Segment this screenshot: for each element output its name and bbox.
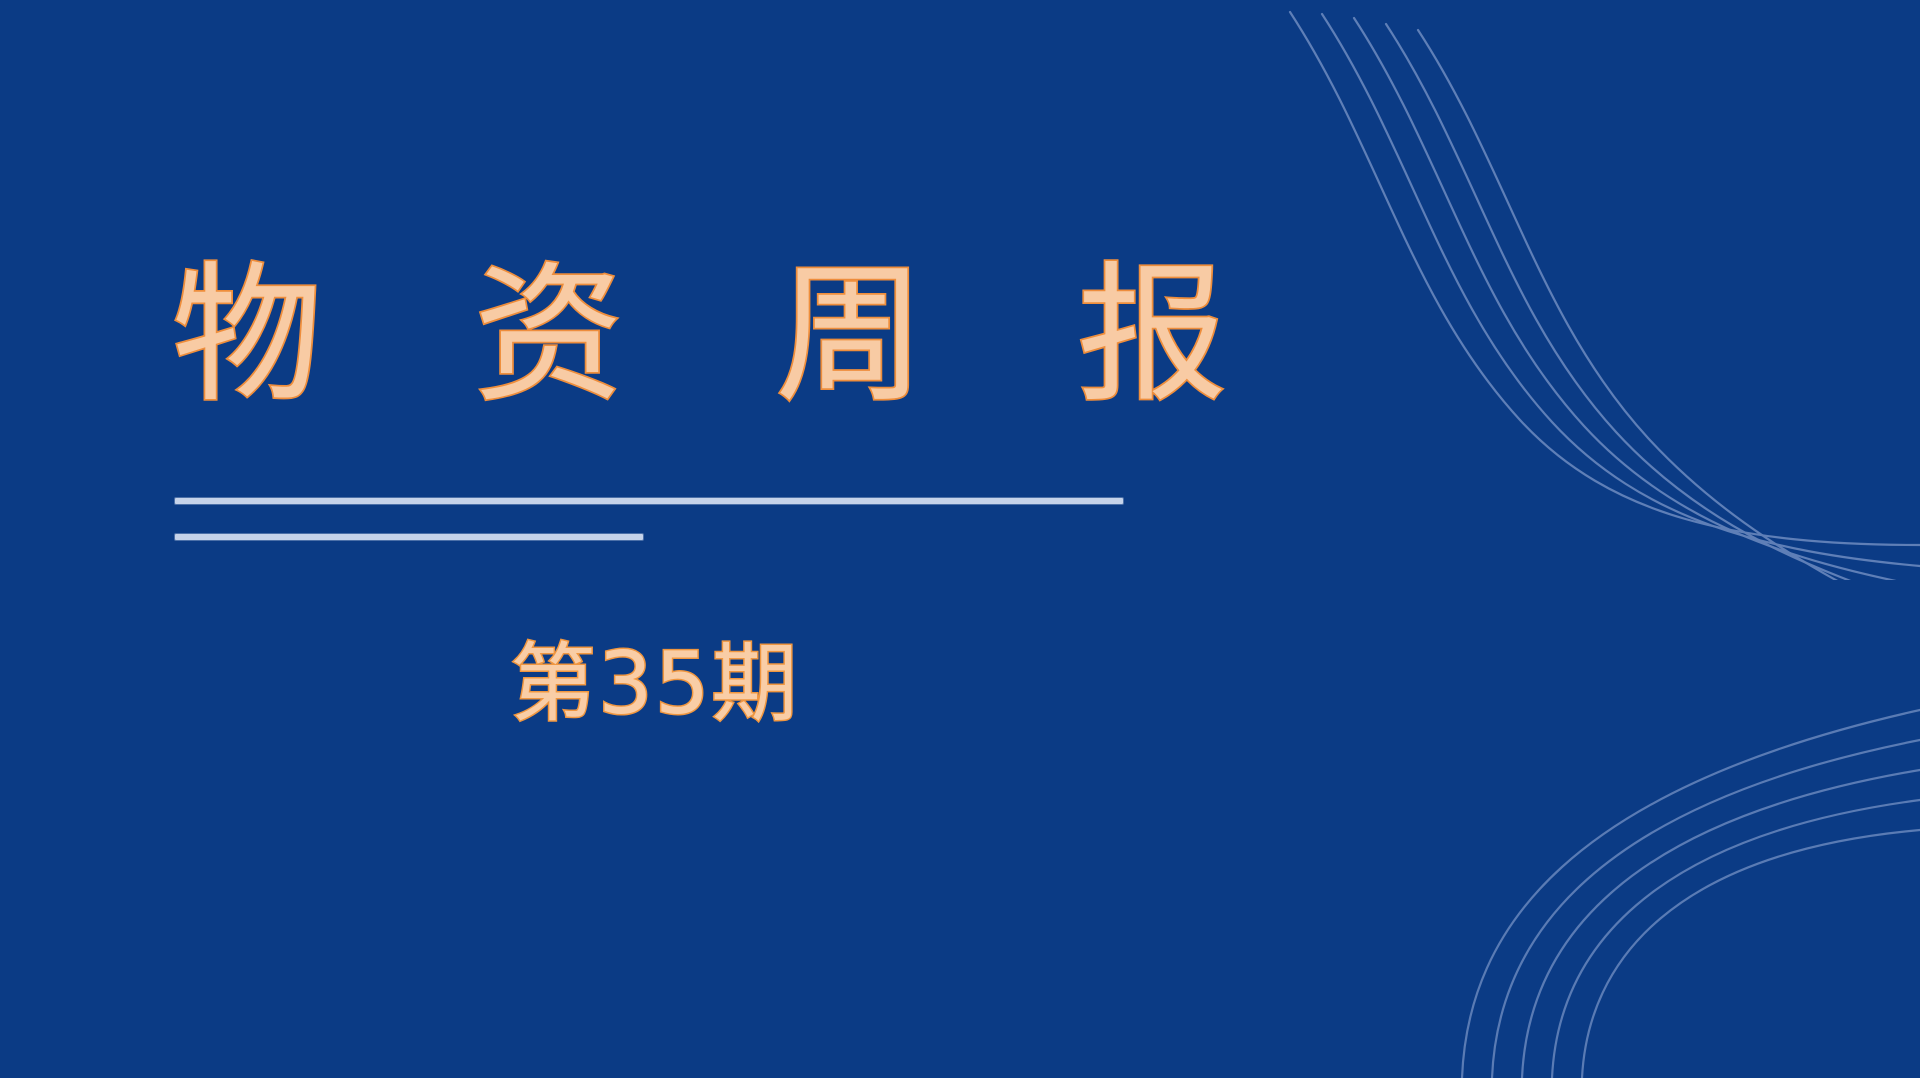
page-title: 物 资 周 报 xyxy=(172,252,1172,420)
issue-subtitle: 第35期 xyxy=(510,636,799,732)
swoosh-lines-top-right-icon xyxy=(1260,0,1920,580)
title-block: 物 资 周 报 xyxy=(172,252,1172,420)
slide-canvas: 物 资 周 报 第35期 xyxy=(0,0,1920,1078)
arc-lines-bottom-right-icon xyxy=(1240,598,1920,1078)
title-underline-long xyxy=(175,498,1123,504)
title-divider-group xyxy=(175,498,1123,540)
title-underline-short xyxy=(175,534,643,540)
